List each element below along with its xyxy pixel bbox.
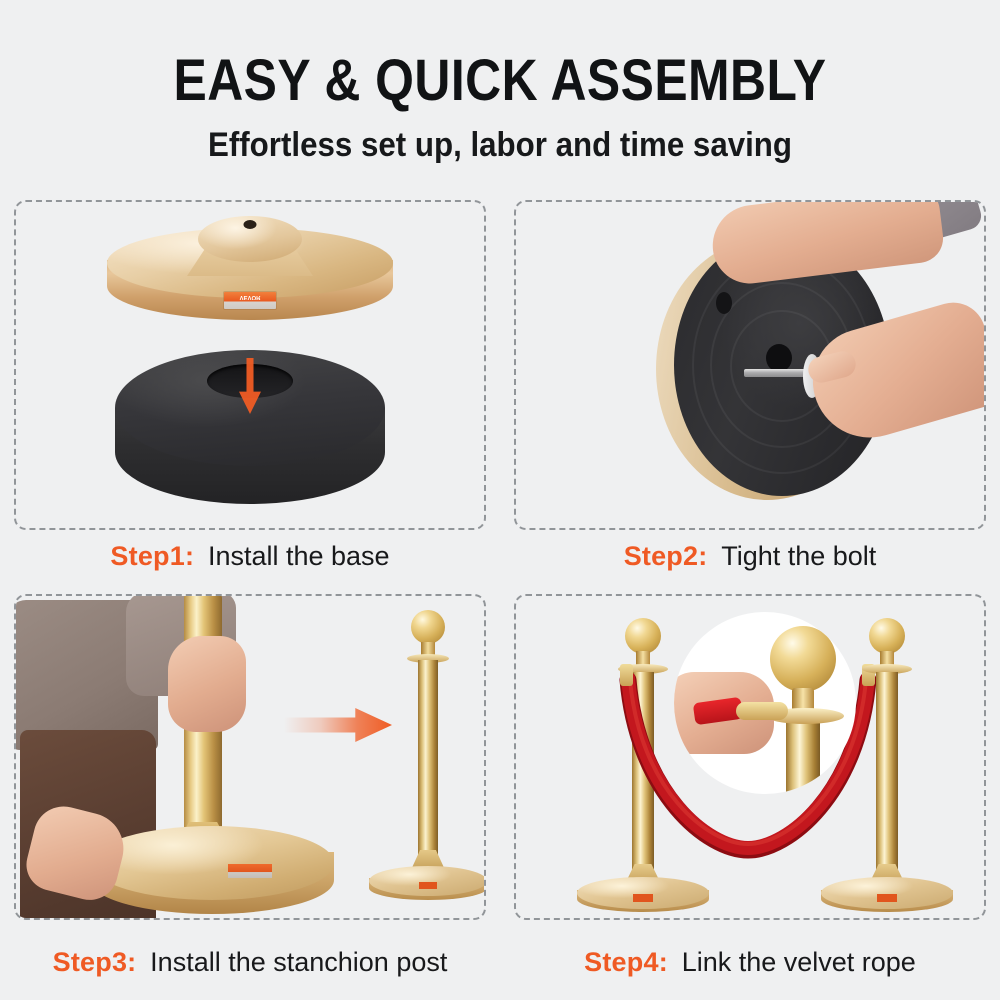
page-title: EASY & QUICK ASSEMBLY: [70, 52, 930, 110]
vevor-sticker: [877, 894, 897, 902]
gold-base-cover-icon: VEVOR: [107, 228, 393, 332]
page-subtitle: Effortless set up, labor and time saving: [40, 126, 960, 165]
finial-neck: [880, 651, 894, 665]
ball-finial-icon: [770, 626, 836, 692]
closeup-inset-circle: [674, 612, 856, 794]
vevor-sticker: [419, 882, 437, 889]
gold-base-top: [90, 826, 334, 900]
post-tube: [418, 660, 438, 864]
base-top: [369, 866, 486, 896]
vevor-sticker-label: VEVOR: [224, 292, 276, 301]
disc-notch: [716, 292, 732, 314]
base-top: [821, 877, 953, 909]
step-3-image-panel: [14, 594, 486, 920]
step-3-label: Step3: [53, 947, 128, 977]
assembly-steps-grid: VEVOR Step1:Install the base: [0, 196, 1000, 986]
base-top: [577, 877, 709, 909]
step-2-caption: Step2:Tight the bolt: [500, 541, 1000, 572]
post-tube: [786, 718, 820, 794]
bolt-hole-icon: [244, 220, 257, 229]
black-weighted-base-icon: [115, 350, 385, 522]
step-2-label: Step2: [624, 541, 699, 571]
step-3-colon: :: [127, 947, 136, 977]
step-2-illustration: [516, 202, 984, 528]
ball-finial-icon: [869, 618, 905, 654]
step-1-illustration: VEVOR: [16, 202, 484, 528]
vevor-sticker: [633, 894, 653, 902]
vevor-sticker: [228, 864, 272, 878]
step-4-colon: :: [659, 947, 668, 977]
step-4-caption: Step4:Link the velvet rope: [500, 947, 1000, 978]
step-2-colon: :: [698, 541, 707, 571]
step-cell-1: VEVOR Step1:Install the base: [0, 196, 500, 586]
step-1-colon: :: [185, 541, 194, 571]
center-bolt-hole-icon: [766, 344, 792, 372]
ball-finial-icon: [411, 610, 445, 644]
step-2-description: Tight the bolt: [721, 541, 876, 571]
gold-snap-hook-icon: [736, 702, 788, 720]
post-tube: [876, 672, 898, 876]
step-4-image-panel: [514, 594, 986, 920]
finial-neck: [636, 651, 650, 665]
header: EASY & QUICK ASSEMBLY Effortless set up,…: [0, 0, 1000, 165]
step-2-image-panel: [514, 200, 986, 530]
step-1-description: Install the base: [208, 541, 390, 571]
base-top: [115, 350, 385, 466]
step-cell-4: Step4:Link the velvet rope: [500, 586, 1000, 986]
step-1-caption: Step1:Install the base: [0, 541, 500, 572]
vevor-sticker: VEVOR: [224, 292, 276, 309]
cover-hub: [198, 216, 302, 262]
step-4-label: Step4: [584, 947, 659, 977]
hand-holding-post: [168, 636, 246, 732]
step-1-label: Step1: [110, 541, 185, 571]
step-3-illustration: [16, 596, 484, 918]
step-3-caption: Step3:Install the stanchion post: [0, 947, 500, 978]
rope-clip-left-icon: [620, 664, 633, 686]
step-4-description: Link the velvet rope: [682, 947, 916, 977]
step-cell-3: Step3:Install the stanchion post: [0, 586, 500, 986]
step-3-description: Install the stanchion post: [150, 947, 447, 977]
ball-finial-icon: [625, 618, 661, 654]
step-cell-2: Step2:Tight the bolt: [500, 196, 1000, 586]
assembled-stanchion-icon: [368, 610, 486, 908]
step-4-illustration: [516, 596, 984, 918]
step-1-image-panel: VEVOR: [14, 200, 486, 530]
